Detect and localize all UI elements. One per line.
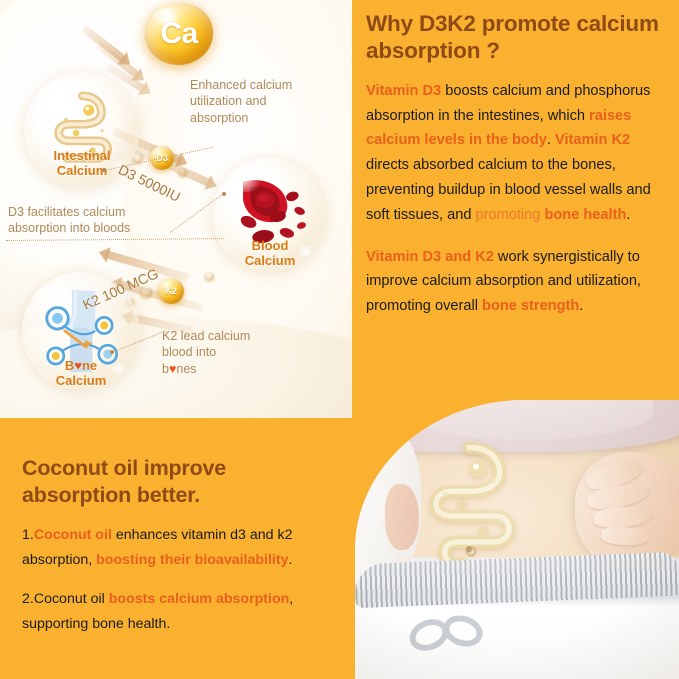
bottom-text-column: Coconut oil improve absorption better. 1…	[22, 455, 340, 636]
coconut-oil-item-1: 1.Coconut oil enhances vitamin d3 and k2…	[22, 523, 340, 572]
infographic-root: Ca D3 K2 Intestinal	[0, 0, 679, 679]
calcium-absorption-diagram: Ca D3 K2 Intestinal	[0, 0, 352, 418]
right-text-column: Why D3K2 promote calcium absorption ? Vi…	[366, 10, 666, 319]
ca-label: Ca	[145, 3, 213, 65]
k2-pill-label: K2	[165, 287, 177, 296]
heart-icon-2: ♥	[169, 362, 176, 376]
leader-dot-bone	[110, 350, 114, 354]
annotation-enhanced-utilization: Enhanced calcium utilization and absorpt…	[190, 77, 340, 126]
gel-droplet-e	[205, 272, 214, 281]
annotation-k2-leads: K2 lead calcium blood into b♥nes	[162, 328, 312, 377]
coconut-oil-heading: Coconut oil improve absorption better.	[22, 455, 340, 508]
why-d3k2-heading: Why D3K2 promote calcium absorption ?	[366, 10, 666, 65]
k2-gel-pill: K2	[158, 278, 184, 304]
leader-dot-enhanced	[102, 168, 106, 172]
why-d3k2-paragraph-2: Vitamin D3 and K2 work synergistically t…	[366, 245, 666, 319]
abdomen-photo	[355, 400, 679, 679]
bone-calcium-label: B♥ne Calcium	[14, 358, 148, 389]
annotation-d3-facilitates: D3 facilitates calcium absorption into b…	[8, 204, 188, 237]
blood-calcium-label: Blood Calcium	[208, 238, 332, 269]
why-d3k2-paragraph-1: Vitamin D3 boosts calcium and phosphorus…	[366, 79, 666, 228]
photo-image	[355, 400, 679, 679]
ca-gel-capsule: Ca	[145, 3, 213, 65]
gel-droplet-b	[178, 168, 187, 177]
leader-dot-blood	[222, 192, 226, 196]
heart-icon: ♥	[74, 358, 82, 373]
coconut-oil-item-2: 2.Coconut oil boosts calcium absorption,…	[22, 587, 340, 636]
photo-vignette	[355, 400, 679, 679]
